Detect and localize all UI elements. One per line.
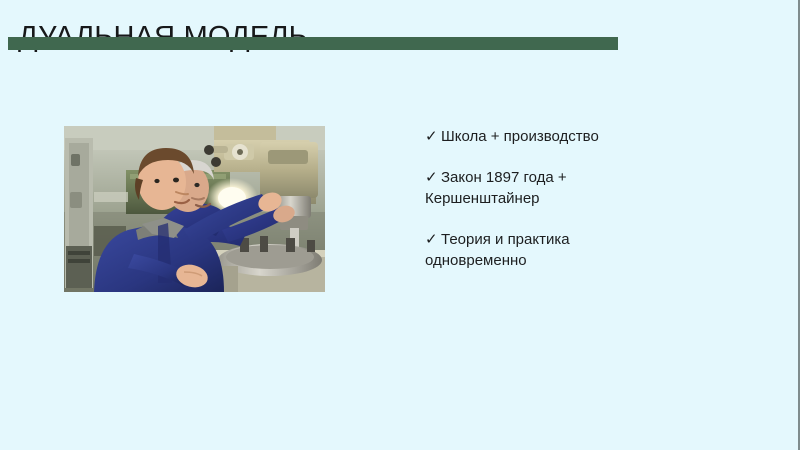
slide-photo (64, 126, 325, 292)
list-item: ✓Закон 1897 года + Кершенштайнер (425, 167, 675, 209)
list-item: ✓Теория и практика одновременно (425, 229, 675, 271)
title-accent-bar (8, 37, 618, 50)
list-item: ✓Школа + производство (425, 126, 675, 147)
bullet-text: Теория и практика одновременно (425, 231, 570, 269)
check-icon: ✓ (425, 126, 441, 147)
photo-inner (64, 126, 325, 292)
check-icon: ✓ (425, 229, 441, 250)
bullet-text: Школа + производство (441, 128, 599, 145)
bullet-list: ✓Школа + производство ✓Закон 1897 года +… (425, 126, 675, 271)
check-icon: ✓ (425, 167, 441, 188)
slide: ДУАЛЬНАЯ МОДЕЛЬ (0, 0, 800, 450)
bullet-text: Закон 1897 года + Кершенштайнер (425, 169, 567, 207)
